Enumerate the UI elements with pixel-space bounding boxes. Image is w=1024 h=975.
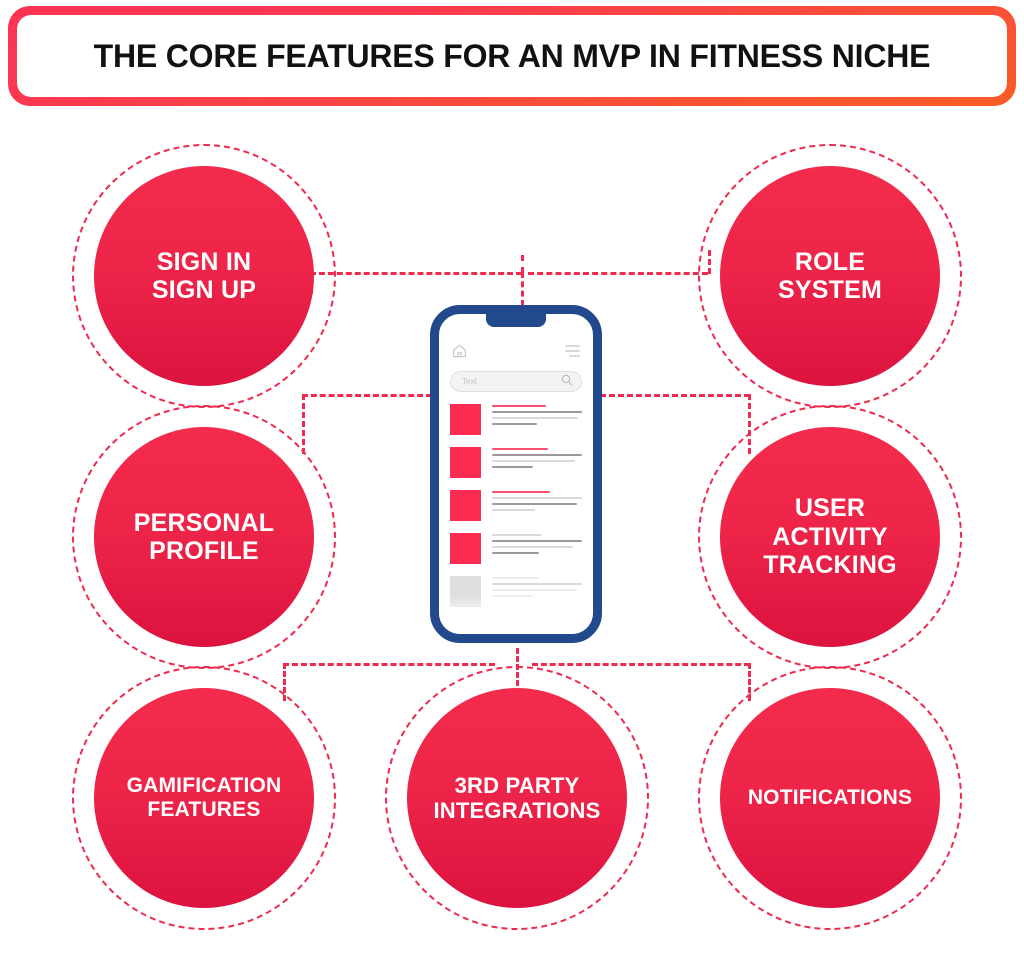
node-label: SIGN IN SIGN UP — [148, 248, 260, 305]
list-item[interactable] — [450, 490, 582, 521]
node-personal-profile[interactable]: PERSONAL PROFILE — [72, 405, 336, 669]
app-content-list — [450, 404, 582, 607]
connector-top-horizontal-left — [310, 272, 522, 275]
home-icon[interactable] — [452, 344, 467, 358]
node-label: GAMIFICATION FEATURES — [123, 774, 286, 822]
hamburger-menu-icon[interactable] — [565, 345, 580, 357]
feature-disc: USER ACTIVITY TRACKING — [720, 427, 940, 647]
app-topbar — [450, 340, 582, 362]
node-role-system[interactable]: ROLE SYSTEM — [698, 144, 962, 408]
search-input[interactable]: Text — [450, 371, 582, 392]
connector-top-center-stub-up — [521, 255, 524, 273]
list-item[interactable] — [450, 576, 582, 607]
list-item[interactable] — [450, 447, 582, 478]
list-item-text — [492, 533, 582, 564]
node-label: USER ACTIVITY TRACKING — [759, 494, 901, 580]
node-label: 3RD PARTY INTEGRATIONS — [430, 773, 605, 823]
infographic-canvas: THE CORE FEATURES FOR AN MVP IN FITNESS … — [0, 0, 1024, 975]
connector-top-horizontal-right — [528, 272, 708, 275]
title-banner-inner: THE CORE FEATURES FOR AN MVP IN FITNESS … — [17, 15, 1007, 97]
node-user-activity-tracking[interactable]: USER ACTIVITY TRACKING — [698, 405, 962, 669]
node-notifications[interactable]: NOTIFICATIONS — [698, 666, 962, 930]
list-item-thumbnail — [450, 447, 481, 478]
list-item-text — [492, 576, 582, 607]
mobile-app-mockup: Text — [430, 305, 602, 643]
node-label: NOTIFICATIONS — [744, 786, 916, 810]
list-item-text — [492, 447, 582, 478]
node-label: PERSONAL PROFILE — [130, 509, 279, 566]
list-item-thumbnail — [450, 576, 481, 607]
page-title: THE CORE FEATURES FOR AN MVP IN FITNESS … — [94, 38, 931, 75]
title-banner: THE CORE FEATURES FOR AN MVP IN FITNESS … — [8, 6, 1016, 106]
list-item[interactable] — [450, 404, 582, 435]
feature-disc: ROLE SYSTEM — [720, 166, 940, 386]
node-gamification-features[interactable]: GAMIFICATION FEATURES — [72, 666, 336, 930]
list-item-text — [492, 490, 582, 521]
connector-top-center-stub-down — [521, 272, 524, 306]
feature-disc: GAMIFICATION FEATURES — [94, 688, 314, 908]
list-item-text — [492, 404, 582, 435]
feature-disc: SIGN IN SIGN UP — [94, 166, 314, 386]
list-item-thumbnail — [450, 404, 481, 435]
search-placeholder: Text — [462, 377, 477, 386]
node-label: ROLE SYSTEM — [774, 248, 886, 305]
search-icon[interactable] — [561, 373, 573, 391]
phone-screen: Text — [439, 314, 593, 634]
list-item[interactable] — [450, 533, 582, 564]
node-sign-in-sign-up[interactable]: SIGN IN SIGN UP — [72, 144, 336, 408]
feature-disc: NOTIFICATIONS — [720, 688, 940, 908]
list-item-thumbnail — [450, 490, 481, 521]
node-third-party-integrations[interactable]: 3RD PARTY INTEGRATIONS — [385, 666, 649, 930]
feature-disc: PERSONAL PROFILE — [94, 427, 314, 647]
feature-disc: 3RD PARTY INTEGRATIONS — [407, 688, 627, 908]
list-item-thumbnail — [450, 533, 481, 564]
